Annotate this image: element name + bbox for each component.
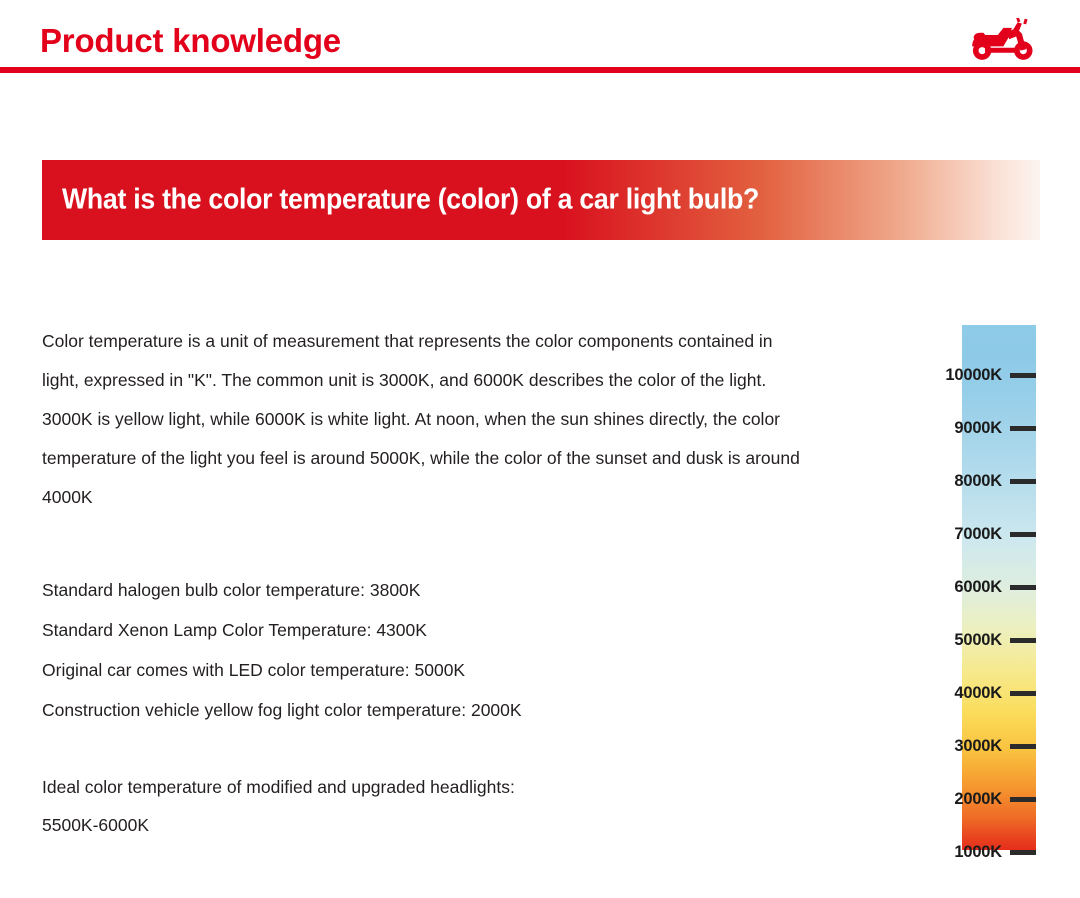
question-banner-label: What is the color temperature (color) of…	[62, 184, 759, 217]
scale-tick-mark	[1010, 426, 1036, 431]
scale-tick-mark	[1010, 638, 1036, 643]
scale-tick: 5000K	[860, 632, 1036, 648]
scooter-icon	[966, 18, 1038, 62]
ideal-temperature-value: 5500K-6000K	[42, 806, 802, 844]
spec-line: Original car comes with LED color temper…	[42, 650, 802, 690]
color-temperature-scale: 10000K 9000K 8000K 7000K 6000K 5000K 400…	[860, 325, 1060, 851]
scale-tick: 1000K	[860, 844, 1036, 860]
scale-tick-mark	[1010, 797, 1036, 802]
spec-list: Standard halogen bulb color temperature:…	[42, 570, 802, 730]
header-divider	[0, 67, 1080, 73]
scale-tick: 8000K	[860, 473, 1036, 489]
intro-paragraph: Color temperature is a unit of measureme…	[42, 322, 802, 517]
spec-line: Construction vehicle yellow fog light co…	[42, 690, 802, 730]
scale-tick-label: 9000K	[954, 419, 1002, 438]
ideal-temperature-label: Ideal color temperature of modified and …	[42, 768, 802, 806]
scale-tick-mark	[1010, 691, 1036, 696]
question-banner-text: What is the color temperature (color) of…	[62, 184, 820, 217]
scale-tick-label: 2000K	[954, 790, 1002, 809]
scale-tick: 7000K	[860, 526, 1036, 542]
scale-tick-label: 8000K	[954, 472, 1002, 491]
page-title: Product knowledge	[40, 22, 341, 60]
scale-tick: 9000K	[860, 420, 1036, 436]
scale-tick-label: 4000K	[954, 684, 1002, 703]
scale-tick: 10000K	[860, 367, 1036, 383]
scale-tick-label: 6000K	[954, 578, 1002, 597]
scale-tick-mark	[1010, 850, 1036, 855]
scale-tick-label: 1000K	[954, 843, 1002, 862]
spec-line: Standard halogen bulb color temperature:…	[42, 570, 802, 610]
scale-tick-label: 10000K	[945, 366, 1002, 385]
scale-tick-label: 7000K	[954, 525, 1002, 544]
question-banner: What is the color temperature (color) of…	[42, 160, 1040, 240]
scale-tick-mark	[1010, 585, 1036, 590]
scale-tick-mark	[1010, 479, 1036, 484]
scale-tick: 4000K	[860, 685, 1036, 701]
spec-line: Standard Xenon Lamp Color Temperature: 4…	[42, 610, 802, 650]
scale-tick-label: 3000K	[954, 737, 1002, 756]
scale-tick: 2000K	[860, 791, 1036, 807]
scale-tick: 3000K	[860, 738, 1036, 754]
scale-tick-mark	[1010, 744, 1036, 749]
ideal-temperature-block: Ideal color temperature of modified and …	[42, 768, 802, 844]
scale-tick-mark	[1010, 532, 1036, 537]
intro-text-block: Color temperature is a unit of measureme…	[42, 322, 802, 517]
scale-tick: 6000K	[860, 579, 1036, 595]
page-header: Product knowledge	[0, 0, 1080, 74]
scale-tick-mark	[1010, 373, 1036, 378]
scale-tick-label: 5000K	[954, 631, 1002, 650]
